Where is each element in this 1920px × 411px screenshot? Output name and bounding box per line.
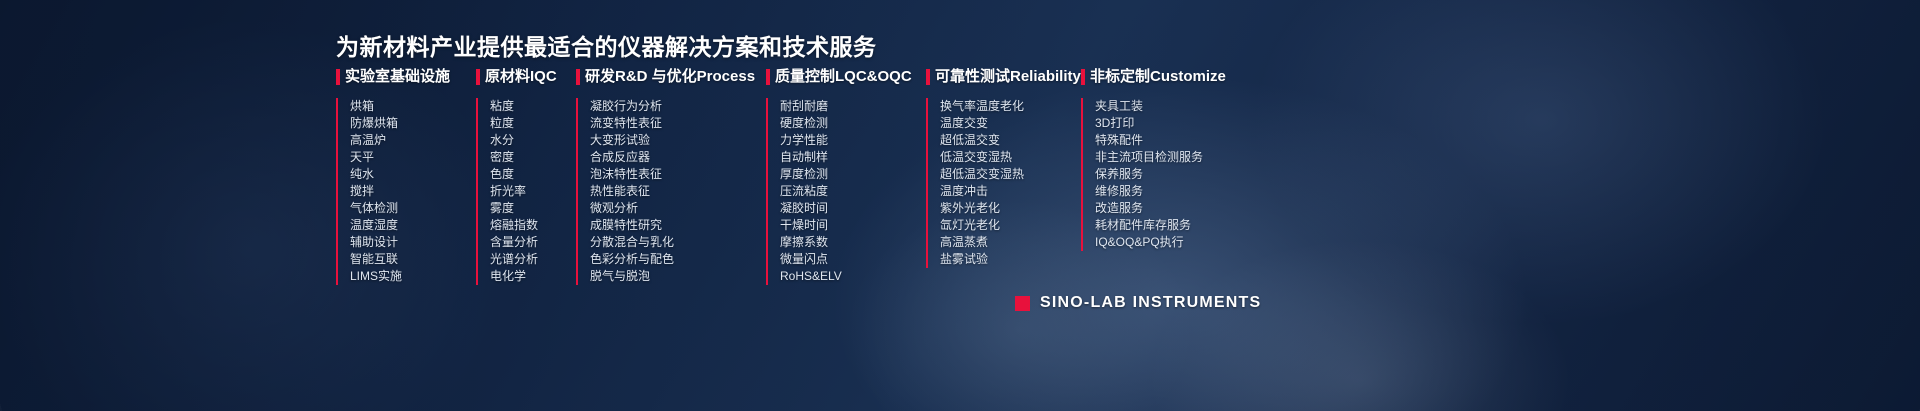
- service-column-3: 研发R&D 与优化Process凝胶行为分析流变特性表征大变形试验合成反应器泡沫…: [576, 68, 766, 285]
- list-item[interactable]: RoHS&ELV: [780, 268, 926, 285]
- list-item[interactable]: 换气率温度老化: [940, 98, 1081, 115]
- column-item-list: 粘度粒度水分密度色度折光率雾度熔融指数含量分析光谱分析电化学: [476, 98, 576, 285]
- list-item[interactable]: 脱气与脱泡: [590, 268, 766, 285]
- list-item[interactable]: 热性能表征: [590, 183, 766, 200]
- column-item-list: 换气率温度老化温度交变超低温交变低温交变湿热超低温交变湿热温度冲击紫外光老化氙灯…: [926, 98, 1081, 268]
- list-item[interactable]: 紫外光老化: [940, 200, 1081, 217]
- list-item[interactable]: 超低温交变: [940, 132, 1081, 149]
- list-item[interactable]: 干燥时间: [780, 217, 926, 234]
- service-category-columns: 实验室基础设施烘箱防爆烘箱高温炉天平纯水搅拌气体检测温度湿度辅助设计智能互联LI…: [336, 68, 1226, 285]
- list-item[interactable]: 电化学: [490, 268, 576, 285]
- promo-banner: 为新材料产业提供最适合的仪器解决方案和技术服务 实验室基础设施烘箱防爆烘箱高温炉…: [0, 0, 1920, 411]
- column-item-list: 夹具工装3D打印特殊配件非主流项目检测服务保养服务维修服务改造服务耗材配件库存服…: [1081, 98, 1226, 251]
- list-item[interactable]: 高温蒸煮: [940, 234, 1081, 251]
- list-item[interactable]: 硬度检测: [780, 115, 926, 132]
- list-item[interactable]: 摩擦系数: [780, 234, 926, 251]
- list-item[interactable]: IQ&OQ&PQ执行: [1095, 234, 1226, 251]
- list-item[interactable]: 保养服务: [1095, 166, 1226, 183]
- list-item[interactable]: 盐雾试验: [940, 251, 1081, 268]
- list-item[interactable]: 气体检测: [350, 200, 476, 217]
- list-item[interactable]: 厚度检测: [780, 166, 926, 183]
- brand-logo: SINO-LAB INSTRUMENTS: [1015, 294, 1261, 312]
- list-item[interactable]: 3D打印: [1095, 115, 1226, 132]
- column-item-list: 凝胶行为分析流变特性表征大变形试验合成反应器泡沫特性表征热性能表征微观分析成膜特…: [576, 98, 766, 285]
- service-column-5: 可靠性测试Reliability换气率温度老化温度交变超低温交变低温交变湿热超低…: [926, 68, 1081, 268]
- list-item[interactable]: 微量闪点: [780, 251, 926, 268]
- list-item[interactable]: 非主流项目检测服务: [1095, 149, 1226, 166]
- list-item[interactable]: 粘度: [490, 98, 576, 115]
- list-item[interactable]: 分散混合与乳化: [590, 234, 766, 251]
- list-item[interactable]: 耐刮耐磨: [780, 98, 926, 115]
- list-item[interactable]: 力学性能: [780, 132, 926, 149]
- list-item[interactable]: LIMS实施: [350, 268, 476, 285]
- list-item[interactable]: 特殊配件: [1095, 132, 1226, 149]
- list-item[interactable]: 自动制样: [780, 149, 926, 166]
- column-item-list: 烘箱防爆烘箱高温炉天平纯水搅拌气体检测温度湿度辅助设计智能互联LIMS实施: [336, 98, 476, 285]
- list-item[interactable]: 辅助设计: [350, 234, 476, 251]
- list-item[interactable]: 合成反应器: [590, 149, 766, 166]
- list-item[interactable]: 耗材配件库存服务: [1095, 217, 1226, 234]
- list-item[interactable]: 色度: [490, 166, 576, 183]
- list-item[interactable]: 泡沫特性表征: [590, 166, 766, 183]
- list-item[interactable]: 熔融指数: [490, 217, 576, 234]
- list-item[interactable]: 折光率: [490, 183, 576, 200]
- list-item[interactable]: 成膜特性研究: [590, 217, 766, 234]
- list-item[interactable]: 凝胶时间: [780, 200, 926, 217]
- list-item[interactable]: 低温交变湿热: [940, 149, 1081, 166]
- list-item[interactable]: 温度交变: [940, 115, 1081, 132]
- list-item[interactable]: 光谱分析: [490, 251, 576, 268]
- list-item[interactable]: 高温炉: [350, 132, 476, 149]
- list-item[interactable]: 大变形试验: [590, 132, 766, 149]
- list-item[interactable]: 烘箱: [350, 98, 476, 115]
- service-column-2: 原材料IQC粘度粒度水分密度色度折光率雾度熔融指数含量分析光谱分析电化学: [476, 68, 576, 285]
- list-item[interactable]: 水分: [490, 132, 576, 149]
- list-item[interactable]: 压流粘度: [780, 183, 926, 200]
- list-item[interactable]: 搅拌: [350, 183, 476, 200]
- list-item[interactable]: 温度冲击: [940, 183, 1081, 200]
- logo-square-icon: [1015, 296, 1030, 311]
- column-header: 非标定制Customize: [1081, 68, 1226, 86]
- column-header: 实验室基础设施: [336, 68, 476, 86]
- column-header: 可靠性测试Reliability: [926, 68, 1081, 86]
- column-header: 质量控制LQC&OQC: [766, 68, 926, 86]
- list-item[interactable]: 含量分析: [490, 234, 576, 251]
- list-item[interactable]: 维修服务: [1095, 183, 1226, 200]
- list-item[interactable]: 流变特性表征: [590, 115, 766, 132]
- list-item[interactable]: 温度湿度: [350, 217, 476, 234]
- column-header: 研发R&D 与优化Process: [576, 68, 766, 86]
- list-item[interactable]: 密度: [490, 149, 576, 166]
- list-item[interactable]: 凝胶行为分析: [590, 98, 766, 115]
- list-item[interactable]: 色彩分析与配色: [590, 251, 766, 268]
- list-item[interactable]: 微观分析: [590, 200, 766, 217]
- list-item[interactable]: 改造服务: [1095, 200, 1226, 217]
- list-item[interactable]: 夹具工装: [1095, 98, 1226, 115]
- logo-text: SINO-LAB INSTRUMENTS: [1040, 294, 1261, 312]
- column-item-list: 耐刮耐磨硬度检测力学性能自动制样厚度检测压流粘度凝胶时间干燥时间摩擦系数微量闪点…: [766, 98, 926, 285]
- list-item[interactable]: 粒度: [490, 115, 576, 132]
- list-item[interactable]: 智能互联: [350, 251, 476, 268]
- service-column-4: 质量控制LQC&OQC耐刮耐磨硬度检测力学性能自动制样厚度检测压流粘度凝胶时间干…: [766, 68, 926, 285]
- list-item[interactable]: 防爆烘箱: [350, 115, 476, 132]
- list-item[interactable]: 天平: [350, 149, 476, 166]
- list-item[interactable]: 纯水: [350, 166, 476, 183]
- page-title: 为新材料产业提供最适合的仪器解决方案和技术服务: [336, 28, 877, 62]
- list-item[interactable]: 雾度: [490, 200, 576, 217]
- column-header: 原材料IQC: [476, 68, 576, 86]
- service-column-1: 实验室基础设施烘箱防爆烘箱高温炉天平纯水搅拌气体检测温度湿度辅助设计智能互联LI…: [336, 68, 476, 285]
- list-item[interactable]: 超低温交变湿热: [940, 166, 1081, 183]
- list-item[interactable]: 氙灯光老化: [940, 217, 1081, 234]
- service-column-6: 非标定制Customize夹具工装3D打印特殊配件非主流项目检测服务保养服务维修…: [1081, 68, 1226, 251]
